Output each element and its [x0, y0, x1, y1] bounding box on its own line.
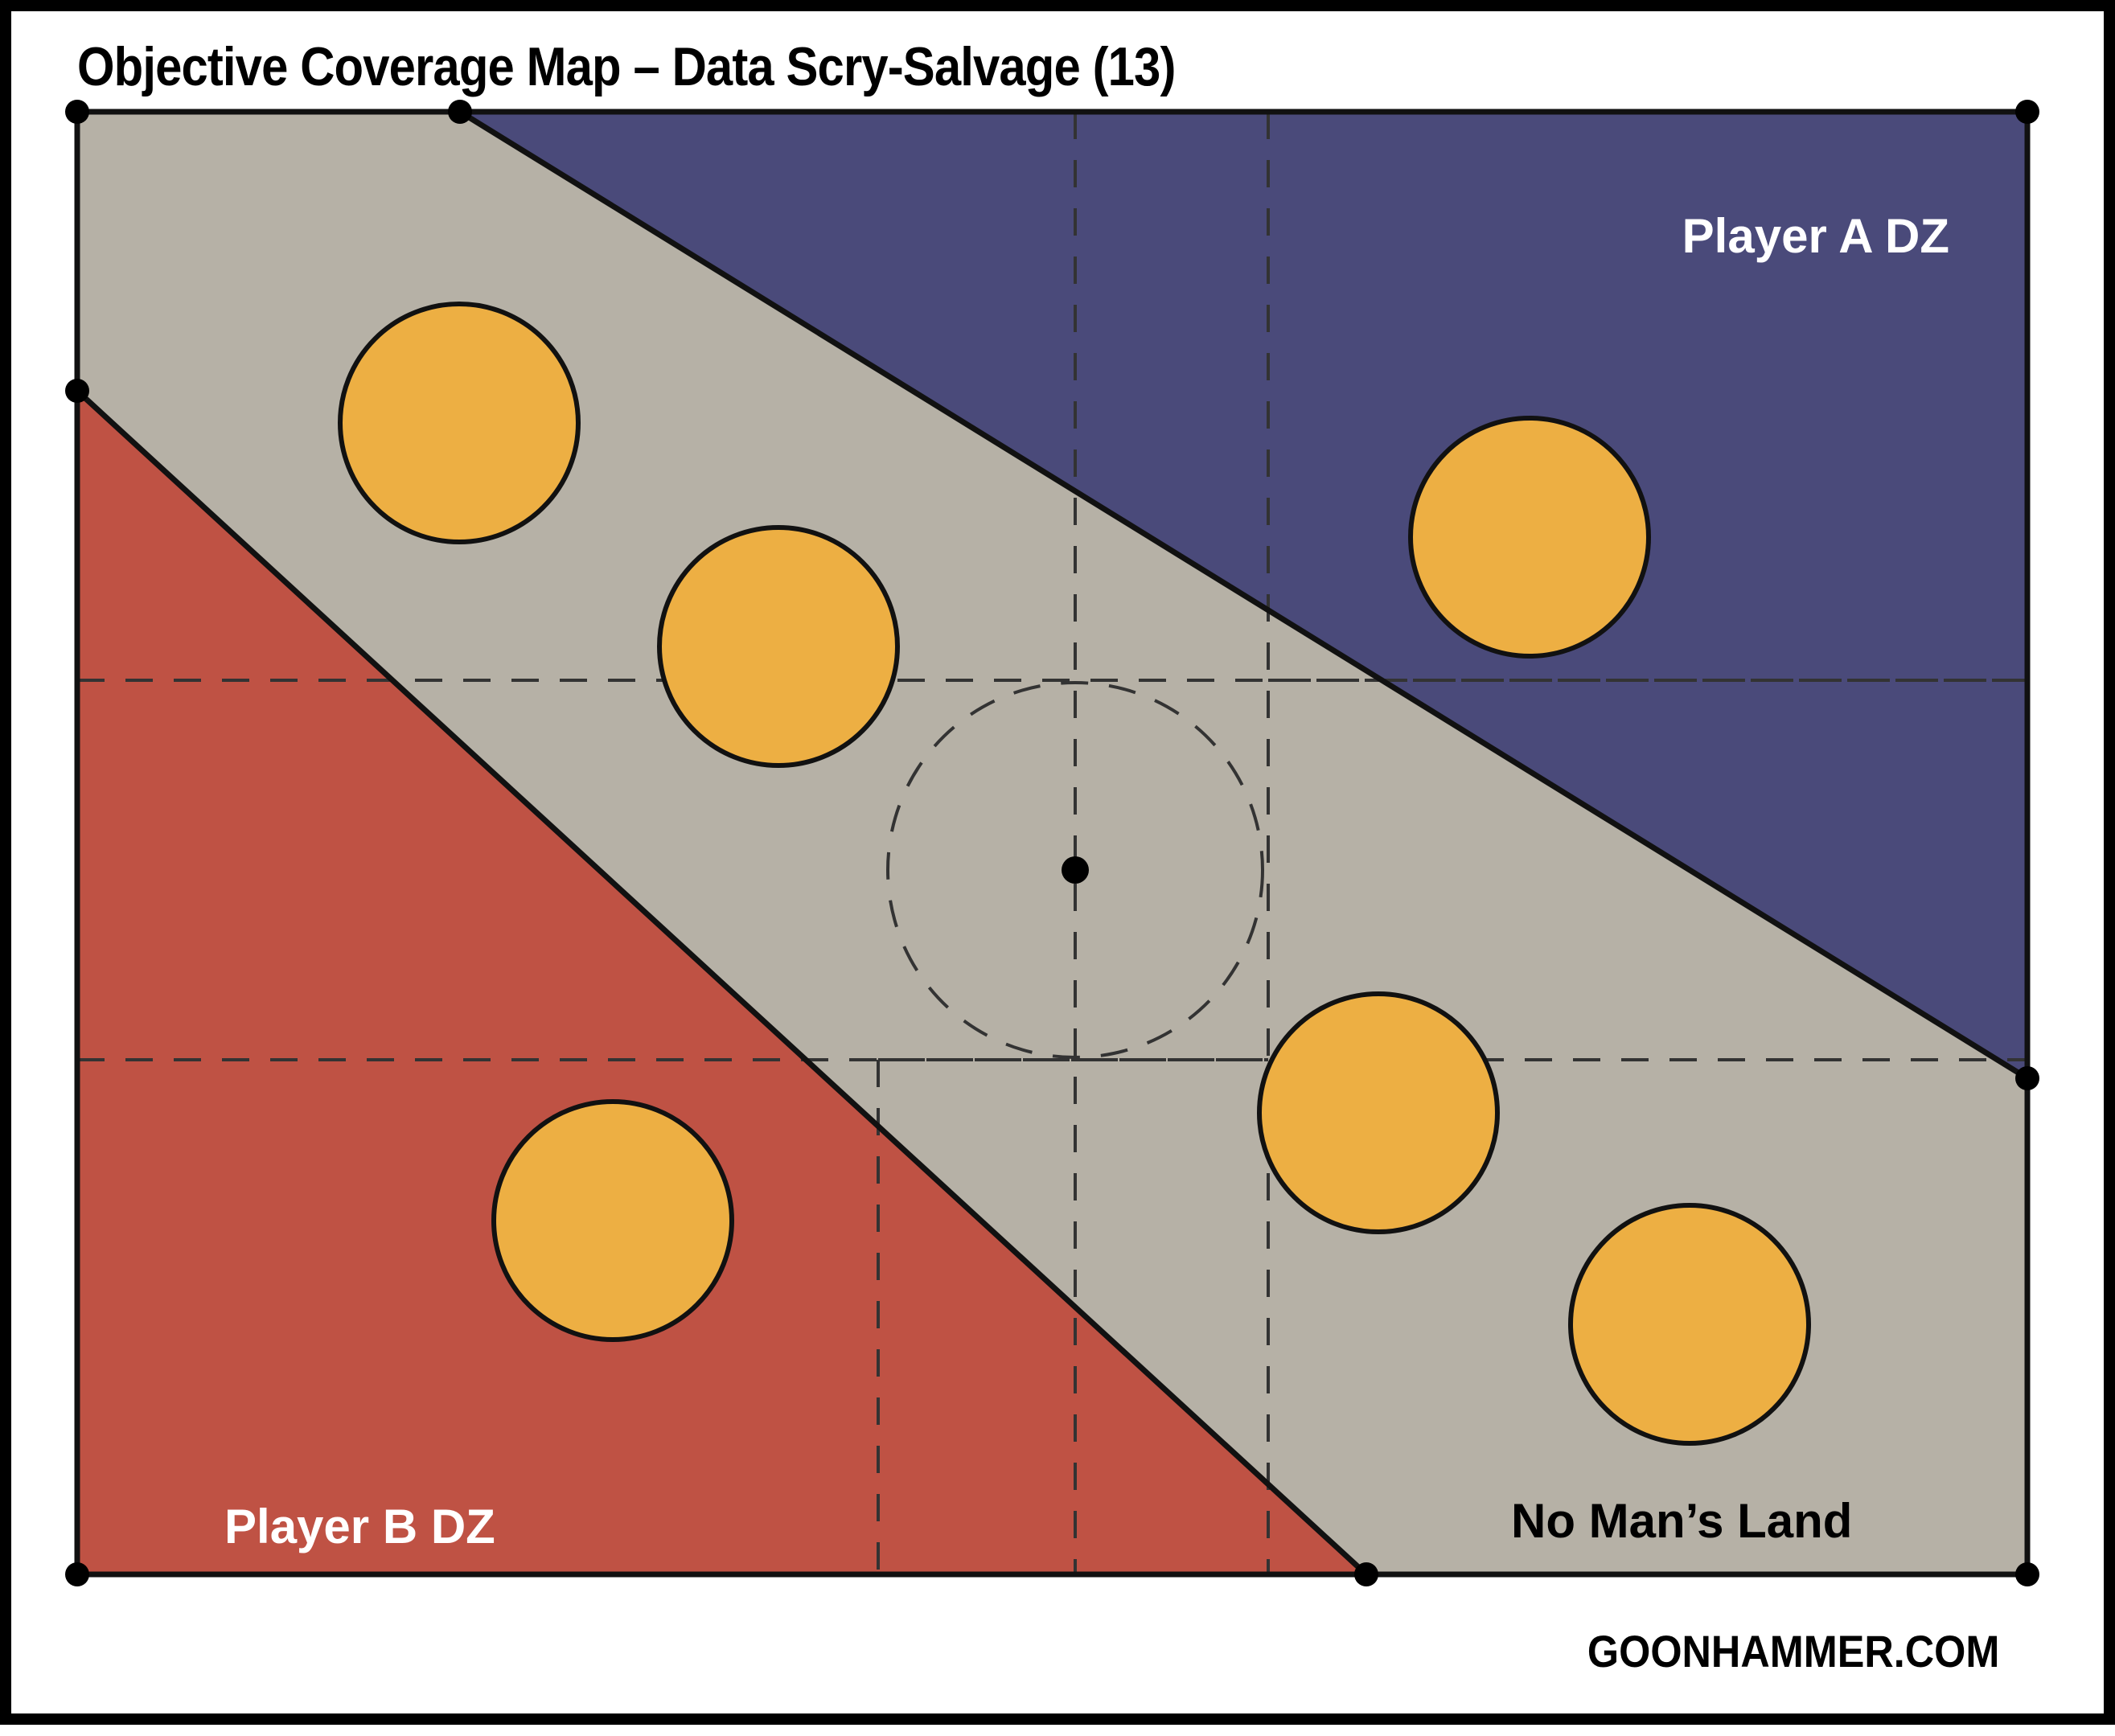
objective-marker[interactable]	[340, 304, 578, 542]
objective-marker[interactable]	[1571, 1205, 1809, 1443]
objective-marker[interactable]	[494, 1102, 732, 1340]
label-no-mans-land: No Man’s Land	[1511, 1494, 1852, 1548]
vertex-dot	[1354, 1562, 1378, 1586]
vertex-dot	[2015, 1066, 2039, 1090]
vertex-dot	[65, 379, 89, 403]
vertex-dot	[65, 100, 89, 124]
vertex-dot	[65, 1562, 89, 1586]
vertex-dot	[2015, 1562, 2039, 1586]
objective-coverage-map: Player A DZ Player B DZ No Man’s Land	[11, 11, 2115, 1736]
label-player-b-dz: Player B DZ	[224, 1500, 495, 1553]
center-dot	[1062, 856, 1089, 884]
objective-marker[interactable]	[1259, 994, 1497, 1232]
vertex-dot	[2015, 100, 2039, 124]
objective-marker[interactable]	[1411, 418, 1649, 656]
label-player-a-dz: Player A DZ	[1682, 209, 1949, 263]
objective-marker[interactable]	[659, 527, 897, 765]
vertex-dot	[448, 100, 472, 124]
diagram-page: Objective Coverage Map – Data Scry-Salva…	[0, 0, 2115, 1725]
site-watermark: GOONHAMMER.COM	[1587, 1625, 1999, 1677]
